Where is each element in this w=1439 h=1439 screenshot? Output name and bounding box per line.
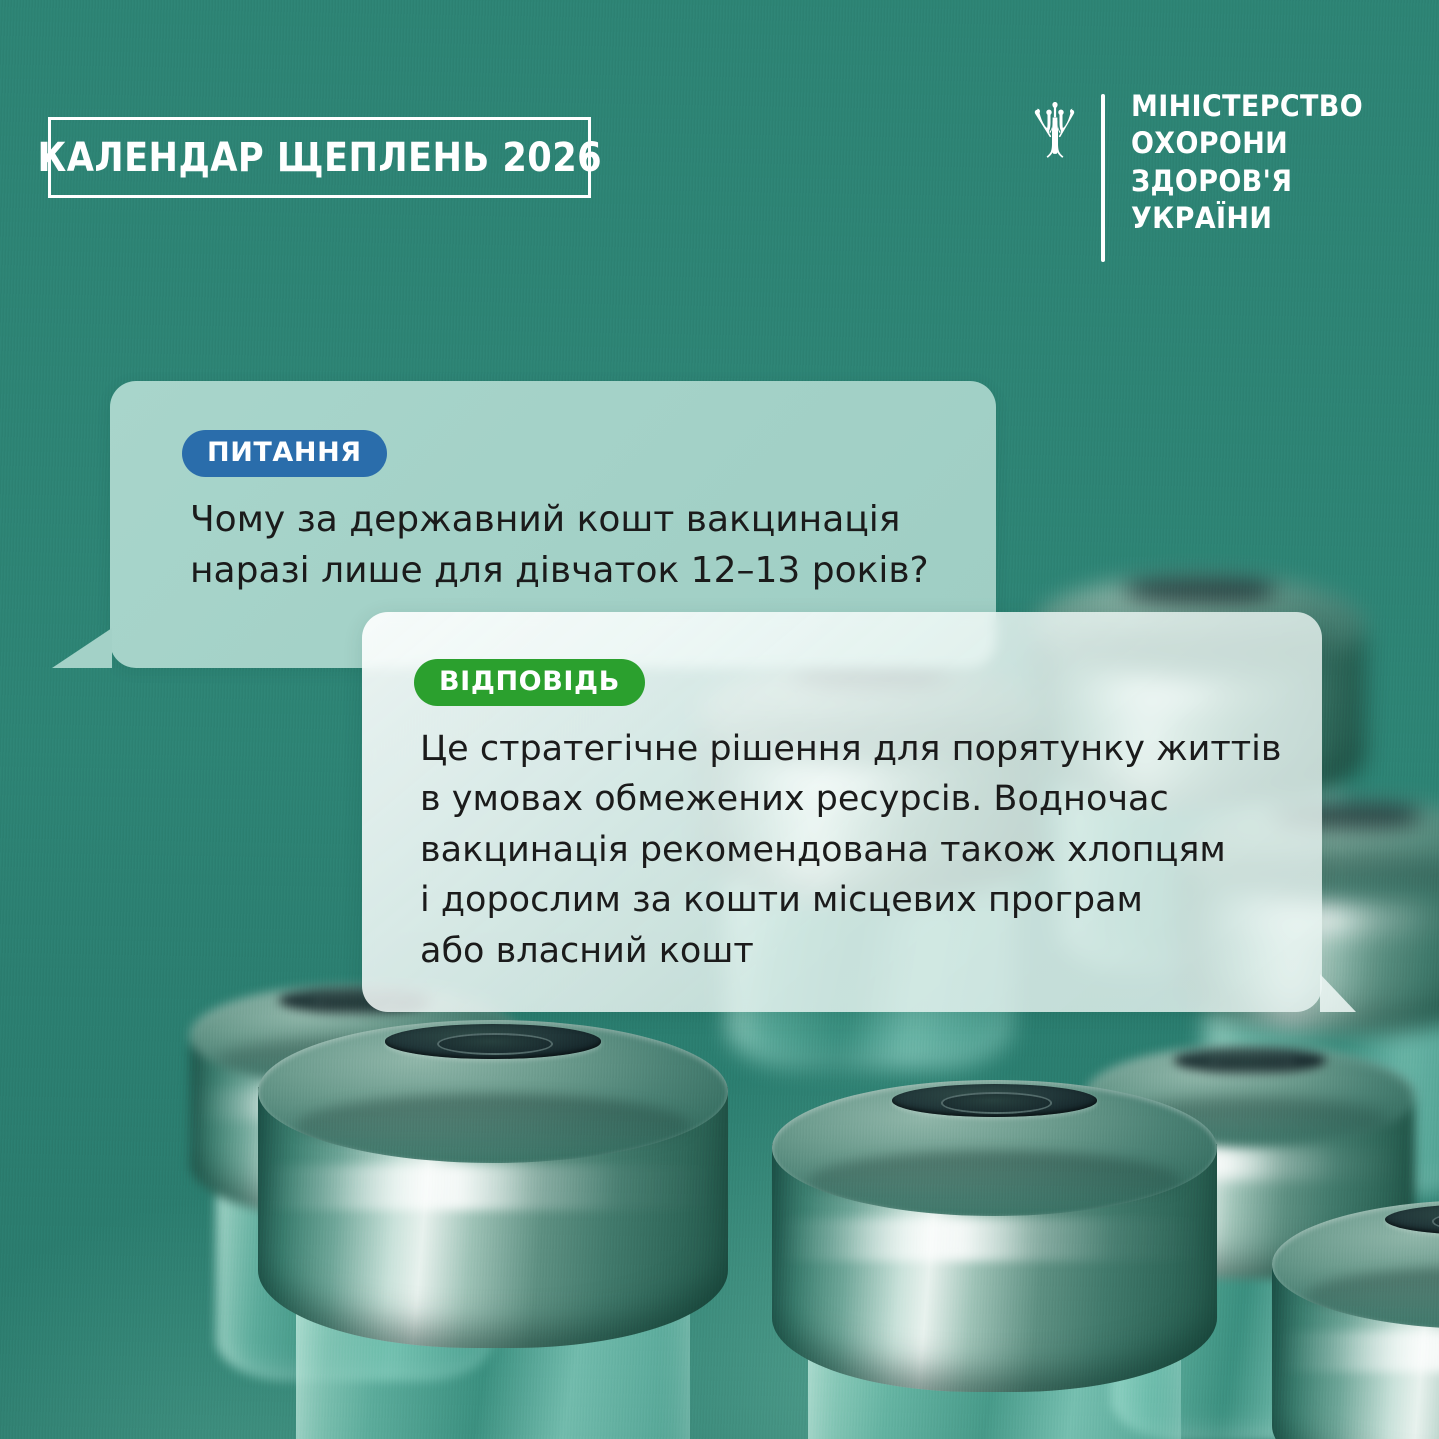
question-text: Чому за державний кошт вакцинація наразі… (190, 494, 990, 596)
vial-stopper (1174, 1048, 1326, 1072)
answer-bubble-body: ВІДПОВІДЬ Це стратегічне рішення для пор… (362, 612, 1322, 1012)
vial-cap-top (772, 1080, 1217, 1216)
page-title: КАЛЕНДАР ЩЕПЛЕНЬ 2026 (37, 135, 602, 181)
ukraine-trident-icon (1031, 96, 1079, 164)
question-badge: ПИТАННЯ (182, 430, 387, 477)
answer-text: Це стратегічне рішення для порятунку жит… (420, 724, 1290, 976)
vial-front-left (258, 1020, 728, 1439)
logo-line-1: МІНІСТЕРСТВО (1131, 90, 1363, 122)
ministry-logo: МІНІСТЕРСТВО ОХОРОНИ ЗДОРОВ'Я УКРАЇНИ (1031, 86, 1380, 262)
answer-badge: ВІДПОВІДЬ (414, 659, 645, 706)
logo-line-3: ЗДОРОВ'Я (1131, 165, 1363, 197)
poster-title-box: КАЛЕНДАР ЩЕПЛЕНЬ 2026 (48, 117, 591, 198)
vial-front-center (772, 1080, 1217, 1439)
logo-line-2: ОХОРОНИ (1131, 127, 1363, 159)
logo-text-block: МІНІСТЕРСТВО ОХОРОНИ ЗДОРОВ'Я УКРАЇНИ (1131, 86, 1380, 235)
vial-cap-top (258, 1020, 728, 1163)
answer-speech-bubble: ВІДПОВІДЬ Це стратегічне рішення для пор… (362, 612, 1322, 1012)
vial-stopper (1385, 1204, 1439, 1235)
logo-line-4: УКРАЇНИ (1131, 202, 1363, 234)
vial-front-right (1272, 1200, 1439, 1439)
vial-stopper (892, 1084, 1097, 1117)
logo-divider (1101, 94, 1105, 262)
infographic-poster: КАЛЕНДАР ЩЕПЛЕНЬ 2026 МІНІСТЕРСТВО ОХОРО… (0, 0, 1439, 1439)
vial-stopper (385, 1024, 601, 1058)
vial-stopper (1124, 578, 1276, 602)
